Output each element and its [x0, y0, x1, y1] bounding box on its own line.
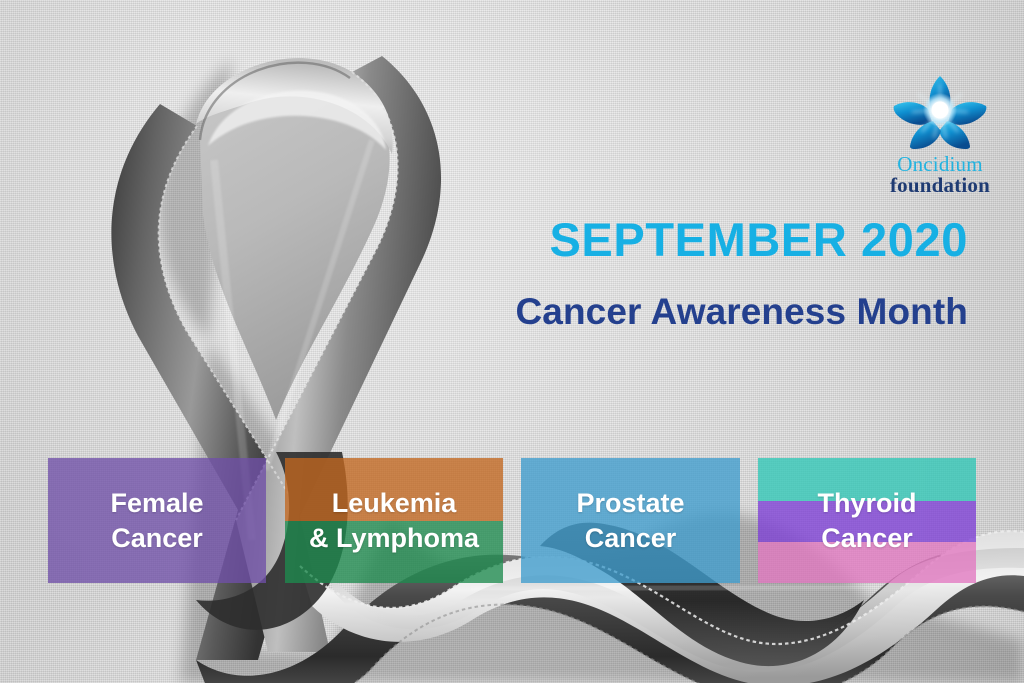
- card-label-line1: Leukemia: [332, 486, 457, 521]
- card-leukemia-lymphoma[interactable]: Leukemia & Lymphoma: [285, 458, 503, 583]
- card-label-line1: Prostate: [576, 486, 684, 521]
- card-label-line1: Thyroid: [818, 486, 917, 521]
- card-thyroid-cancer[interactable]: Thyroid Cancer: [758, 458, 976, 583]
- card-prostate-cancer[interactable]: Prostate Cancer: [521, 458, 740, 583]
- card-label-line2: Cancer: [585, 521, 677, 556]
- poster-canvas: Oncidium foundation SEPTEMBER 2020 Cance…: [0, 0, 1024, 683]
- card-label-line2: & Lymphoma: [309, 521, 479, 556]
- card-female-cancer[interactable]: Female Cancer: [48, 458, 266, 583]
- cancer-category-cards: Female Cancer Leukemia & Lymphoma Prosta…: [0, 0, 1024, 683]
- card-label-line1: Female: [110, 486, 203, 521]
- card-label-line2: Cancer: [821, 521, 913, 556]
- card-label-line2: Cancer: [111, 521, 203, 556]
